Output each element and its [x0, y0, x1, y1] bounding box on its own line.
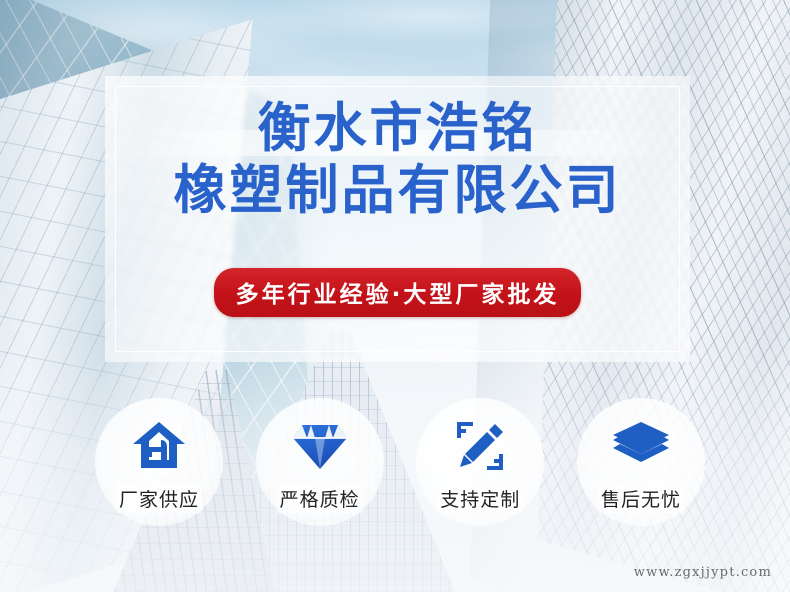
- tagline-badge: 多年行业经验·大型厂家批发: [214, 268, 582, 317]
- pencil-ruler-icon: [451, 418, 509, 474]
- factory-house-icon: [130, 418, 188, 474]
- promo-banner: 衡水市浩铭 橡塑制品有限公司 多年行业经验·大型厂家批发 厂家供应: [0, 0, 790, 592]
- feature-item-strict-quality[interactable]: 严格质检: [256, 398, 384, 526]
- tagline-container: 多年行业经验·大型厂家批发: [105, 268, 690, 317]
- diamond-icon: [291, 418, 349, 474]
- feature-item-after-sales[interactable]: 售后无忧: [577, 398, 705, 526]
- feature-item-custom-support[interactable]: 支持定制: [416, 398, 544, 526]
- site-watermark: www.zgxjjypt.com: [634, 565, 772, 580]
- feature-label-strict-quality: 严格质检: [277, 484, 363, 513]
- feature-label-factory-supply: 厂家供应: [116, 484, 202, 513]
- layers-icon: [612, 418, 670, 474]
- feature-label-custom-support: 支持定制: [437, 484, 523, 513]
- feature-item-factory-supply[interactable]: 厂家供应: [95, 398, 223, 526]
- feature-list: 厂家供应: [95, 398, 705, 526]
- company-title-line-2: 橡塑制品有限公司: [105, 160, 690, 222]
- company-title-line-1: 衡水市浩铭: [105, 98, 690, 160]
- company-title: 衡水市浩铭 橡塑制品有限公司: [105, 98, 690, 222]
- feature-label-after-sales: 售后无忧: [598, 484, 684, 513]
